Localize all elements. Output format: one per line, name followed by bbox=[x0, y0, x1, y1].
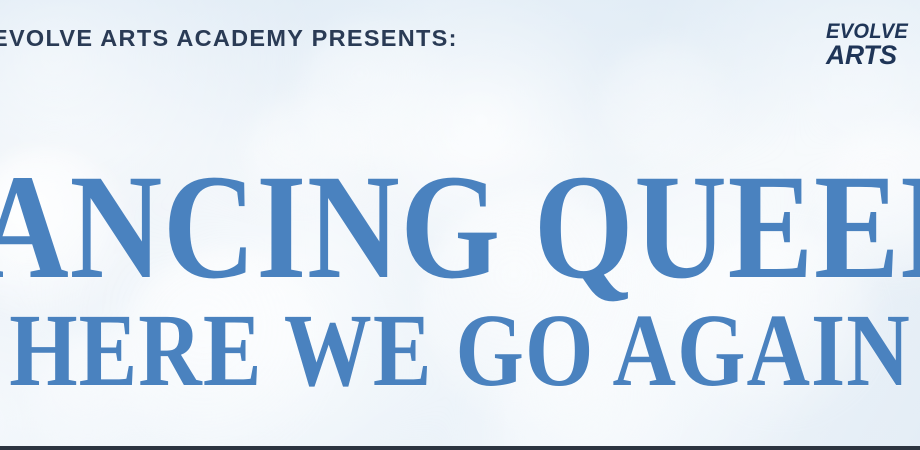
logo-line-evolve: EVOLVE bbox=[826, 22, 920, 41]
presents-label: EVOLVE ARTS ACADEMY PRESENTS: bbox=[0, 27, 458, 51]
bottom-divider-bar bbox=[0, 446, 920, 450]
logo-line-arts: ARTS bbox=[826, 43, 920, 68]
poster-header: EVOLVE ARTS ACADEMY PRESENTS: EVOLVE ART… bbox=[0, 0, 920, 92]
poster-canvas: EVOLVE ARTS ACADEMY PRESENTS: EVOLVE ART… bbox=[0, 0, 920, 450]
evolve-arts-logo: EVOLVE ARTS bbox=[826, 22, 920, 68]
